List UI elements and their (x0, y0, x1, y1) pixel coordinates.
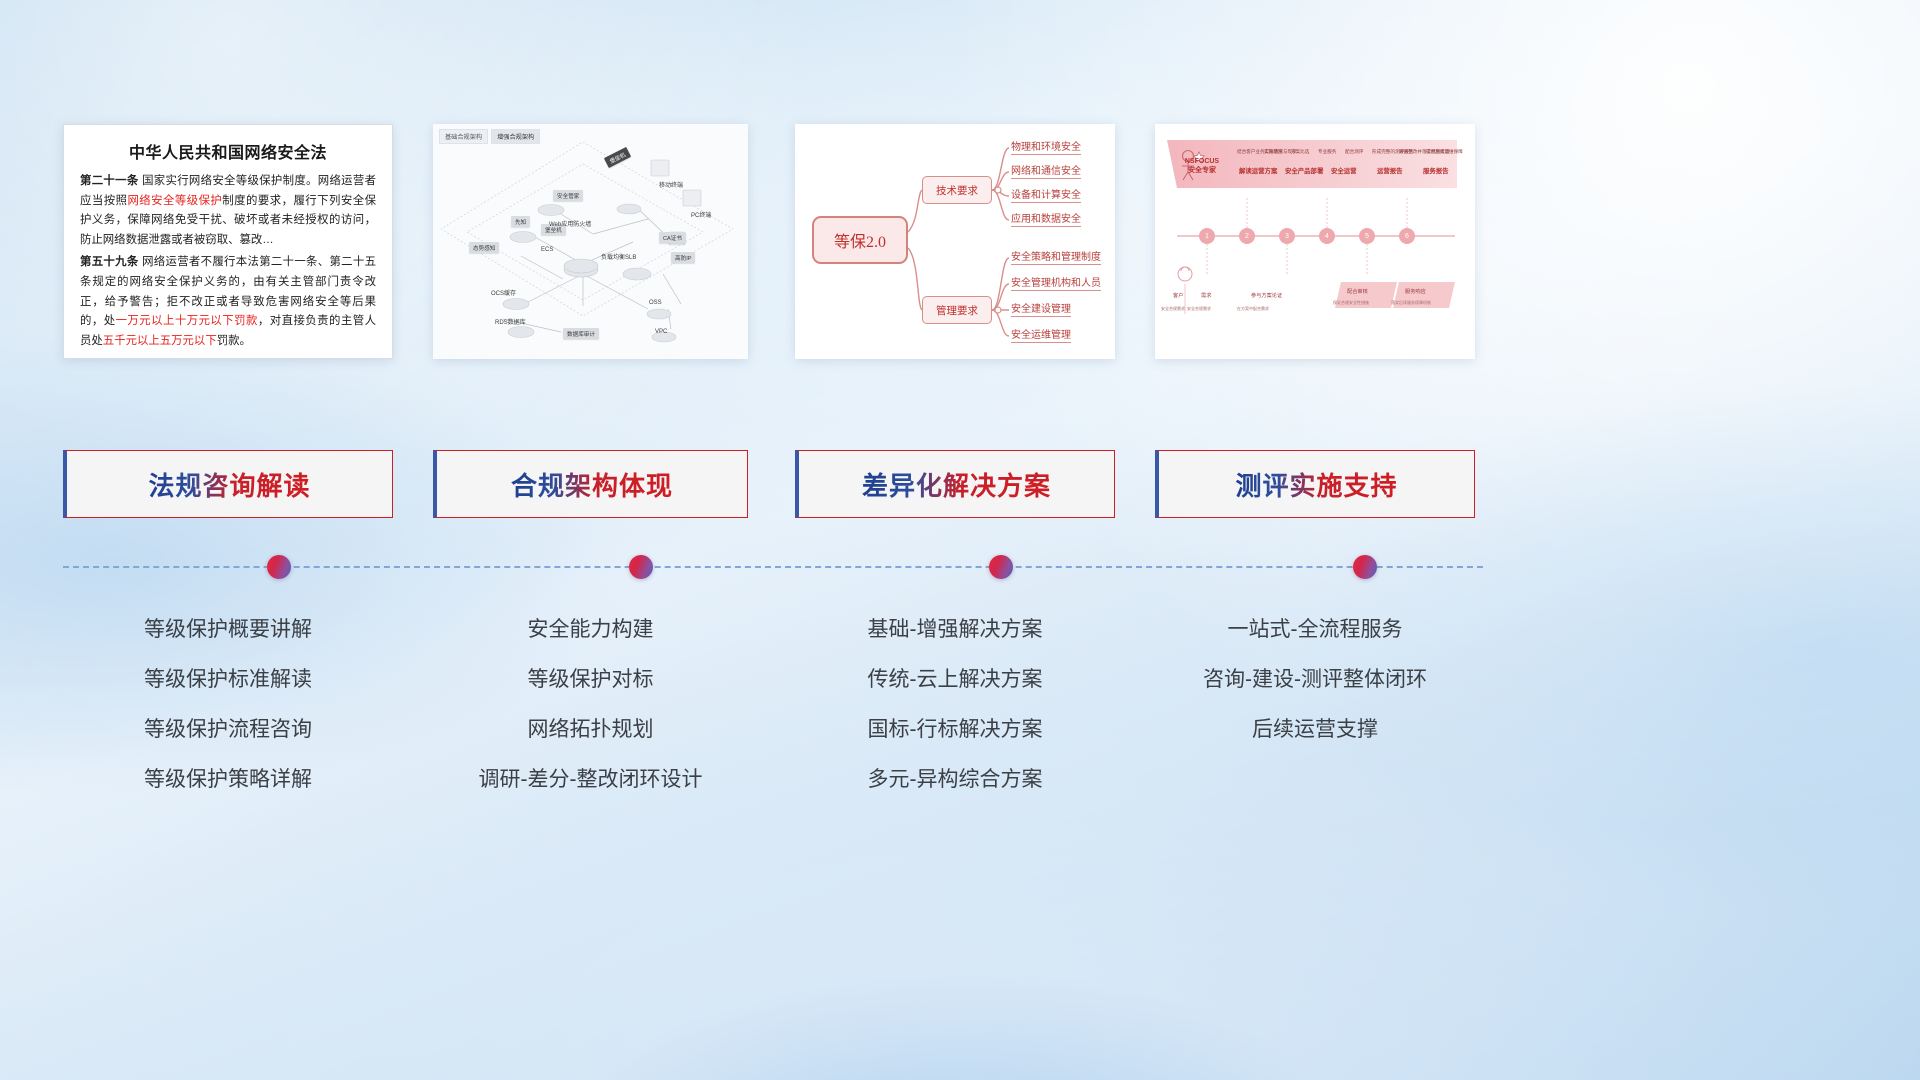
nsfocus-brand: NSFOCUS 安全专家 (1175, 158, 1229, 176)
mindmap-branch-management: 管理要求 (922, 296, 992, 324)
law-paragraph-1: 第二十一条 国家实行网络安全等级保护制度。网络运营者应当按照网络安全等级保护制度… (80, 172, 376, 250)
detail-list-2: 安全能力构建等级保护对标网络拓扑规划调研-差分-整改闭环设计 (433, 605, 748, 805)
mindmap-branch-technical: 技术要求 (922, 176, 992, 204)
headline-label-2: 合规架构体现 (511, 466, 673, 503)
card-cybersecurity-law[interactable]: 中华人民共和国网络安全法 第二十一条 国家实行网络安全等级保护制度。网络运营者应… (63, 124, 393, 359)
architecture-node-6: PC终端 (691, 210, 711, 219)
architecture-node-5: 移动终端 (659, 180, 683, 189)
mindmap-leaf-1-0: 安全策略和管理制度 (1011, 252, 1101, 265)
detail-item-3-0: 一站式-全流程服务 (1155, 605, 1475, 655)
nsfocus-banner-sub-1: 解读运营方案 (1239, 166, 1277, 175)
detail-list-3: 基础-增强解决方案传统-云上解决方案国标-行标解决方案多元-异构综合方案 (795, 605, 1115, 805)
headline-label-3: 差异化解决方案 (862, 466, 1051, 503)
mindmap-leaf-0-0: 物理和环境安全 (1011, 142, 1081, 155)
nsfocus-bottom-sub-2: 在方案中配合需求 (1237, 306, 1269, 312)
detail-item-0-2: 等级保护流程咨询 (63, 705, 393, 755)
detail-item-1-1: 等级保护对标 (433, 655, 748, 705)
architecture-tab-2[interactable]: 增强合规架构 (491, 129, 540, 144)
nsfocus-bottom-tag-1: 需求 (1201, 292, 1211, 299)
nsfocus-flow: NSFOCUS 安全专家 结合客户业务实际情况与现状实施范围方案比选专业服务配合… (1155, 124, 1475, 359)
nsfocus-banner-header-4: 专业服务 (1318, 149, 1336, 155)
nsfocus-bottom-sub-4: 落实后续服务保障机制 (1391, 300, 1431, 306)
nsfocus-step-1[interactable]: 1 (1199, 228, 1215, 244)
nsfocus-step-3[interactable]: 3 (1279, 228, 1295, 244)
detail-item-2-1: 传统-云上解决方案 (795, 655, 1115, 705)
architecture-node-15: OSS (649, 300, 662, 306)
nsfocus-step-5[interactable]: 5 (1359, 228, 1375, 244)
nsfocus-bottom-sub-3: 保证合规安全性措施 (1333, 300, 1369, 306)
nsfocus-banner-sub-5: 服务报告 (1423, 166, 1449, 175)
mindmap-leaf-1-1: 安全管理机构和人员 (1011, 278, 1101, 291)
architecture-node-2: 安全管家 (553, 190, 583, 201)
nsfocus-bottom-tag-3: 配合审核 (1347, 288, 1368, 295)
architecture-node-8: Web应用防火墙 (549, 219, 591, 228)
mindmap-leaf-1-2: 安全建设管理 (1011, 304, 1071, 317)
detail-item-3-1: 咨询-建设-测评整体闭环 (1155, 655, 1475, 705)
nsfocus-brand-line1: NSFOCUS (1175, 158, 1229, 167)
law-body: 中华人民共和国网络安全法 第二十一条 国家实行网络安全等级保护制度。网络运营者应… (64, 125, 392, 359)
detail-item-2-2: 国标-行标解决方案 (795, 705, 1115, 755)
nsfocus-banner-header-2: 实施范围 (1264, 149, 1282, 155)
poster-canvas: 中华人民共和国网络安全法 第二十一条 国家实行网络安全等级保护制度。网络运营者应… (0, 0, 1920, 1080)
timeline (63, 566, 1483, 568)
detail-item-2-3: 多元-异构综合方案 (795, 755, 1115, 805)
nsfocus-client-label: 客户 (1173, 292, 1183, 299)
architecture-node-16: VPC (655, 329, 667, 335)
architecture-node-17: 数据库审计 (563, 328, 599, 339)
nsfocus-bottom-tag-2: 参与方案论证 (1251, 292, 1282, 299)
headline-row: 法规咨询解读 合规架构体现 差异化解决方案 测评实施支持 (0, 450, 1920, 518)
nsfocus-banner-header-8: 提供后续运维保障 (1426, 149, 1463, 155)
law-title: 中华人民共和国网络安全法 (80, 139, 376, 163)
card-nsfocus-service-flow[interactable]: NSFOCUS 安全专家 结合客户业务实际情况与现状实施范围方案比选专业服务配合… (1155, 124, 1475, 359)
architecture-node-9: CA证书 (659, 232, 686, 243)
nsfocus-step-6[interactable]: 6 (1399, 228, 1415, 244)
nsfocus-step-2[interactable]: 2 (1239, 228, 1255, 244)
timeline-dot-3[interactable] (989, 555, 1013, 579)
headline-button-3[interactable]: 差异化解决方案 (795, 450, 1115, 518)
media-card-row: 中华人民共和国网络安全法 第二十一条 国家实行网络安全等级保护制度。网络运营者应… (0, 124, 1920, 364)
architecture-tabs[interactable]: 基础合规架构增强合规架构 (439, 129, 540, 144)
detail-item-3-2: 后续运营支撑 (1155, 705, 1475, 755)
nsfocus-banner-sub-3: 安全运营 (1331, 166, 1357, 175)
timeline-dot-2[interactable] (629, 555, 653, 579)
architecture-node-12: 负载均衡SLB (601, 252, 636, 261)
nsfocus-step-4[interactable]: 4 (1319, 228, 1335, 244)
architecture-diagram: 基础合规架构增强合规架构 (433, 124, 748, 359)
detail-item-1-0: 安全能力构建 (433, 605, 748, 655)
timeline-dot-1[interactable] (267, 555, 291, 579)
headline-button-4[interactable]: 测评实施支持 (1155, 450, 1475, 518)
architecture-node-14: RDS数据库 (495, 317, 526, 326)
detail-item-0-3: 等级保护策略详解 (63, 755, 393, 805)
detail-item-1-2: 网络拓扑规划 (433, 705, 748, 755)
architecture-node-13: OCS缓存 (491, 288, 516, 297)
law-article-number: 第五十九条 (80, 256, 139, 268)
detail-list-1: 等级保护概要讲解等级保护标准解读等级保护流程咨询等级保护策略详解 (63, 605, 393, 805)
card-compliance-architecture[interactable]: 基础合规架构增强合规架构 (433, 124, 748, 359)
card-dengbao-mindmap[interactable]: 等保2.0 技术要求 管理要求 物理和环境安全网络和通信安全设备和计算安全应用和… (795, 124, 1115, 359)
nsfocus-client-sub: 安全合规需求 (1161, 306, 1185, 312)
detail-list-4: 一站式-全流程服务咨询-建设-测评整体闭环后续运营支撑 (1155, 605, 1475, 755)
headline-label-1: 法规咨询解读 (148, 466, 310, 503)
law-paragraph-2: 第五十九条 网络运营者不履行本法第二十一条、第二十五条规定的网络安全保护义务的，… (80, 253, 376, 351)
nsfocus-banner-sub-4: 运营报告 (1377, 166, 1403, 175)
mindmap-root-node: 等保2.0 (812, 216, 908, 264)
law-highlight-text: 一万元以上十万元以下罚款 (116, 315, 258, 327)
architecture-node-4: 态势感知 (469, 242, 499, 253)
headline-label-4: 测评实施支持 (1235, 466, 1397, 503)
detail-item-1-3: 调研-差分-整改闭环设计 (433, 755, 748, 805)
nsfocus-brand-line2: 安全专家 (1175, 167, 1229, 176)
nsfocus-banner-header-3: 方案比选 (1291, 149, 1309, 155)
timeline-dot-4[interactable] (1353, 555, 1377, 579)
law-article-number: 第二十一条 (80, 175, 139, 187)
mindmap-leaf-0-2: 设备和计算安全 (1011, 190, 1081, 203)
architecture-node-3: 先知 (511, 216, 530, 227)
architecture-node-10: 高防IP (671, 252, 695, 263)
mindmap-leaf-0-1: 网络和通信安全 (1011, 166, 1081, 179)
nsfocus-banner-header-5: 配合测评 (1345, 149, 1363, 155)
mindmap: 等保2.0 技术要求 管理要求 物理和环境安全网络和通信安全设备和计算安全应用和… (795, 124, 1115, 359)
law-highlight-text: 五千元以上五万元以下 (103, 335, 217, 347)
mindmap-leaf-0-3: 应用和数据安全 (1011, 214, 1081, 227)
detail-item-0-0: 等级保护概要讲解 (63, 605, 393, 655)
detail-item-2-0: 基础-增强解决方案 (795, 605, 1115, 655)
nsfocus-bottom-tag-4: 服务响应 (1405, 288, 1426, 295)
law-text: 罚款。 (217, 335, 251, 347)
mindmap-leaf-1-3: 安全运维管理 (1011, 330, 1071, 343)
architecture-node-11: ECS (541, 247, 553, 253)
law-highlight-text: 网络安全等级保护 (127, 195, 222, 207)
nsfocus-banner-sub-2: 安全产品部署 (1285, 166, 1323, 175)
nsfocus-bottom-sub-1: 安全合规需求 (1187, 306, 1211, 312)
architecture-tab-1[interactable]: 基础合规架构 (439, 129, 488, 144)
headline-button-2[interactable]: 合规架构体现 (433, 450, 748, 518)
detail-item-0-1: 等级保护标准解读 (63, 655, 393, 705)
headline-button-1[interactable]: 法规咨询解读 (63, 450, 393, 518)
